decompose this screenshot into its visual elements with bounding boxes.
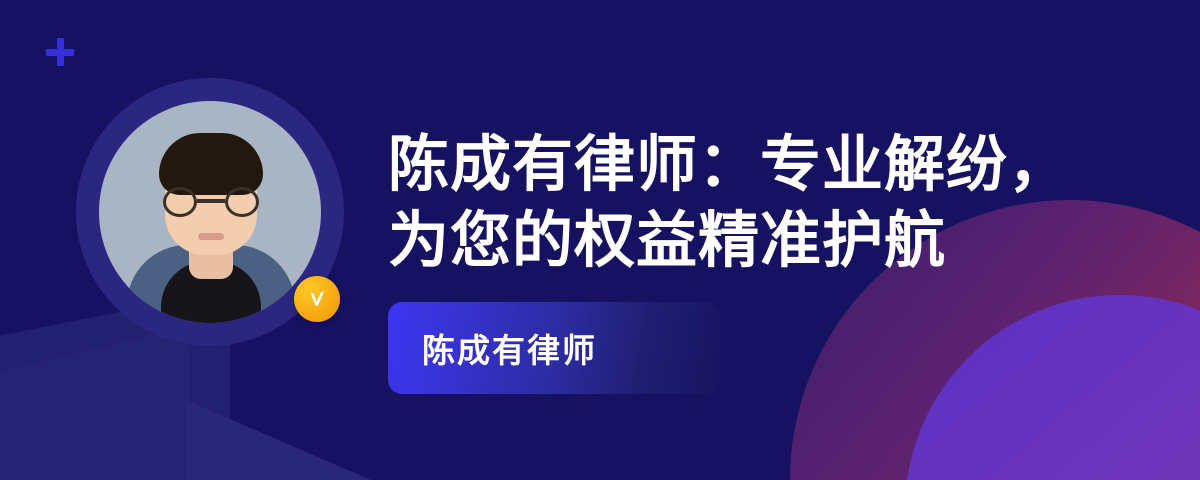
avatar xyxy=(76,78,344,346)
page-title: 陈成有律师：专业解纷， 为您的权益精准护航 xyxy=(388,126,1088,278)
portrait-hair xyxy=(159,133,263,195)
glasses-bridge xyxy=(197,199,225,203)
avatar-photo xyxy=(99,101,321,323)
glasses-lens-right xyxy=(225,187,259,217)
lawyer-name-button[interactable]: 陈成有律师 xyxy=(388,302,720,394)
content-column: 陈成有律师：专业解纷， 为您的权益精准护航 陈成有律师 xyxy=(388,126,1088,394)
lawyer-promo-banner: 陈成有律师：专业解纷， 为您的权益精准护航 陈成有律师 xyxy=(0,0,1200,480)
portrait-glasses xyxy=(161,187,261,217)
verified-v-icon xyxy=(294,276,340,322)
glasses-lens-left xyxy=(163,187,197,217)
plus-icon xyxy=(46,38,74,66)
decorative-triangle xyxy=(186,400,371,480)
headline-line-1: 陈成有律师：专业解纷， xyxy=(388,126,1088,202)
headline-line-2: 为您的权益精准护航 xyxy=(388,202,1088,278)
portrait-mouth xyxy=(198,233,224,240)
